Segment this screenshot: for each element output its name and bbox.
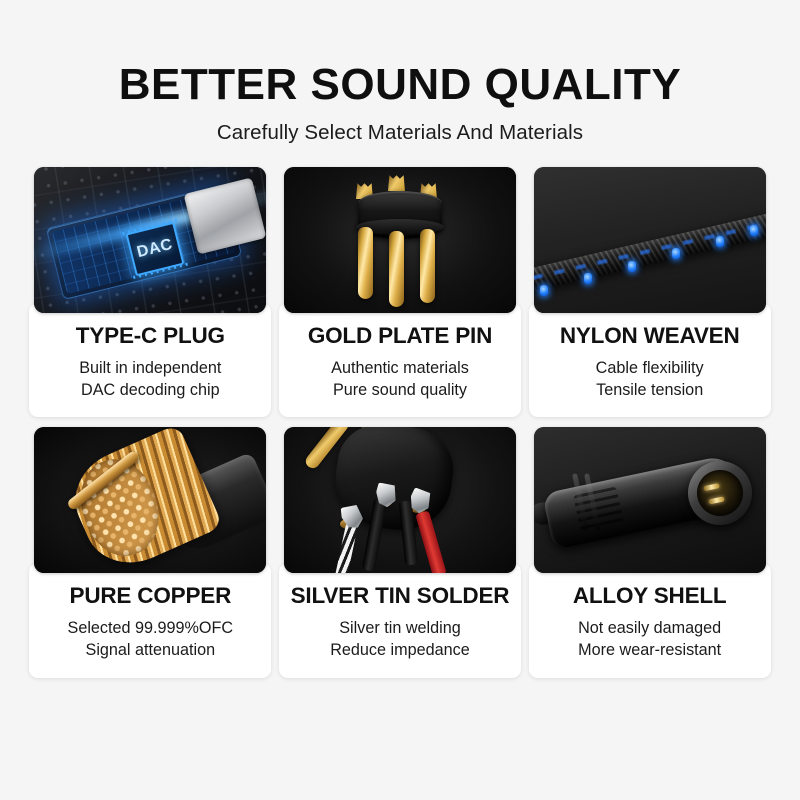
- xlr-connector-mouth: [692, 466, 747, 521]
- feature-line-2: DAC decoding chip: [35, 380, 265, 402]
- feature-card-gold-plate-pin[interactable]: GOLD PLATE PIN Authentic materials Pure …: [278, 167, 523, 417]
- feature-caption-gold-plate-pin: GOLD PLATE PIN Authentic materials Pure …: [279, 303, 521, 417]
- feature-line-1: Silver tin welding: [285, 618, 515, 640]
- feature-card-alloy-shell[interactable]: ALLOY SHELL Not easily damaged More wear…: [527, 427, 772, 677]
- feature-caption-nylon-weaven: NYLON WEAVEN Cable flexibility Tensile t…: [529, 303, 771, 417]
- gold-solder-tab: [388, 175, 405, 191]
- feature-caption-silver-tin-solder: SILVER TIN SOLDER Silver tin welding Red…: [279, 563, 521, 677]
- feature-line-2: Pure sound quality: [285, 380, 515, 402]
- blue-accent-dot: [584, 273, 592, 284]
- feature-line-1: Cable flexibility: [535, 358, 765, 380]
- feature-line-2: More wear-resistant: [535, 640, 765, 662]
- blue-accent-dot: [672, 248, 680, 259]
- dac-chip-icon: DAC: [126, 222, 185, 277]
- copper-strand-bundle: [61, 427, 223, 573]
- blue-accent-dot: [540, 285, 548, 296]
- header: BETTER SOUND QUALITY Carefully Select Ma…: [0, 0, 800, 145]
- braided-cable: [534, 206, 766, 296]
- feature-caption-type-c-plug: TYPE-C PLUG Built in independent DAC dec…: [29, 303, 271, 417]
- dac-chip-label: DAC: [136, 236, 175, 262]
- feature-title: TYPE-C PLUG: [35, 325, 265, 348]
- feature-card-pure-copper[interactable]: PURE COPPER Selected 99.999%OFC Signal a…: [28, 427, 273, 677]
- feature-image-alloy-shell: [534, 427, 766, 573]
- feature-line-1: Built in independent: [35, 358, 265, 380]
- feature-caption-pure-copper: PURE COPPER Selected 99.999%OFC Signal a…: [29, 563, 271, 677]
- feature-image-nylon-weaven: [534, 167, 766, 313]
- blue-accent-dot: [628, 261, 636, 272]
- feature-card-type-c-plug[interactable]: DAC TYPE-C PLUG Built in independent DAC…: [28, 167, 273, 417]
- feature-line-2: Tensile tension: [535, 380, 765, 402]
- page-title: BETTER SOUND QUALITY: [0, 62, 800, 108]
- red-wire: [415, 511, 447, 574]
- feature-image-gold-plate-pin: [284, 167, 516, 313]
- infographic-page: BETTER SOUND QUALITY Carefully Select Ma…: [0, 0, 800, 800]
- feature-line-2: Signal attenuation: [35, 640, 265, 662]
- feature-card-silver-tin-solder[interactable]: SILVER TIN SOLDER Silver tin welding Red…: [278, 427, 523, 677]
- feature-title: PURE COPPER: [35, 585, 265, 608]
- feature-caption-alloy-shell: ALLOY SHELL Not easily damaged More wear…: [529, 563, 771, 677]
- feature-line-2: Reduce impedance: [285, 640, 515, 662]
- feature-line-1: Selected 99.999%OFC: [35, 618, 265, 640]
- feature-line-1: Authentic materials: [285, 358, 515, 380]
- feature-title: NYLON WEAVEN: [535, 325, 765, 348]
- feature-image-type-c-plug: DAC: [34, 167, 266, 313]
- feature-title: ALLOY SHELL: [535, 585, 765, 608]
- feature-image-silver-tin-solder: [284, 427, 516, 573]
- feature-title: SILVER TIN SOLDER: [285, 585, 515, 608]
- blue-accent-dot: [750, 225, 758, 236]
- gold-pin: [358, 227, 373, 299]
- feature-grid: DAC TYPE-C PLUG Built in independent DAC…: [28, 167, 772, 677]
- page-subtitle: Carefully Select Materials And Materials: [0, 121, 800, 145]
- white-wire: [334, 523, 358, 574]
- feature-card-nylon-weaven[interactable]: NYLON WEAVEN Cable flexibility Tensile t…: [527, 167, 772, 417]
- feature-line-1: Not easily damaged: [535, 618, 765, 640]
- gold-pin: [389, 231, 404, 307]
- feature-title: GOLD PLATE PIN: [285, 325, 515, 348]
- blue-accent-dot: [716, 236, 724, 247]
- gold-pin: [420, 229, 435, 303]
- xlr-gold-pin: [703, 483, 720, 491]
- feature-image-pure-copper: [34, 427, 266, 573]
- xlr-gold-pin: [708, 497, 725, 505]
